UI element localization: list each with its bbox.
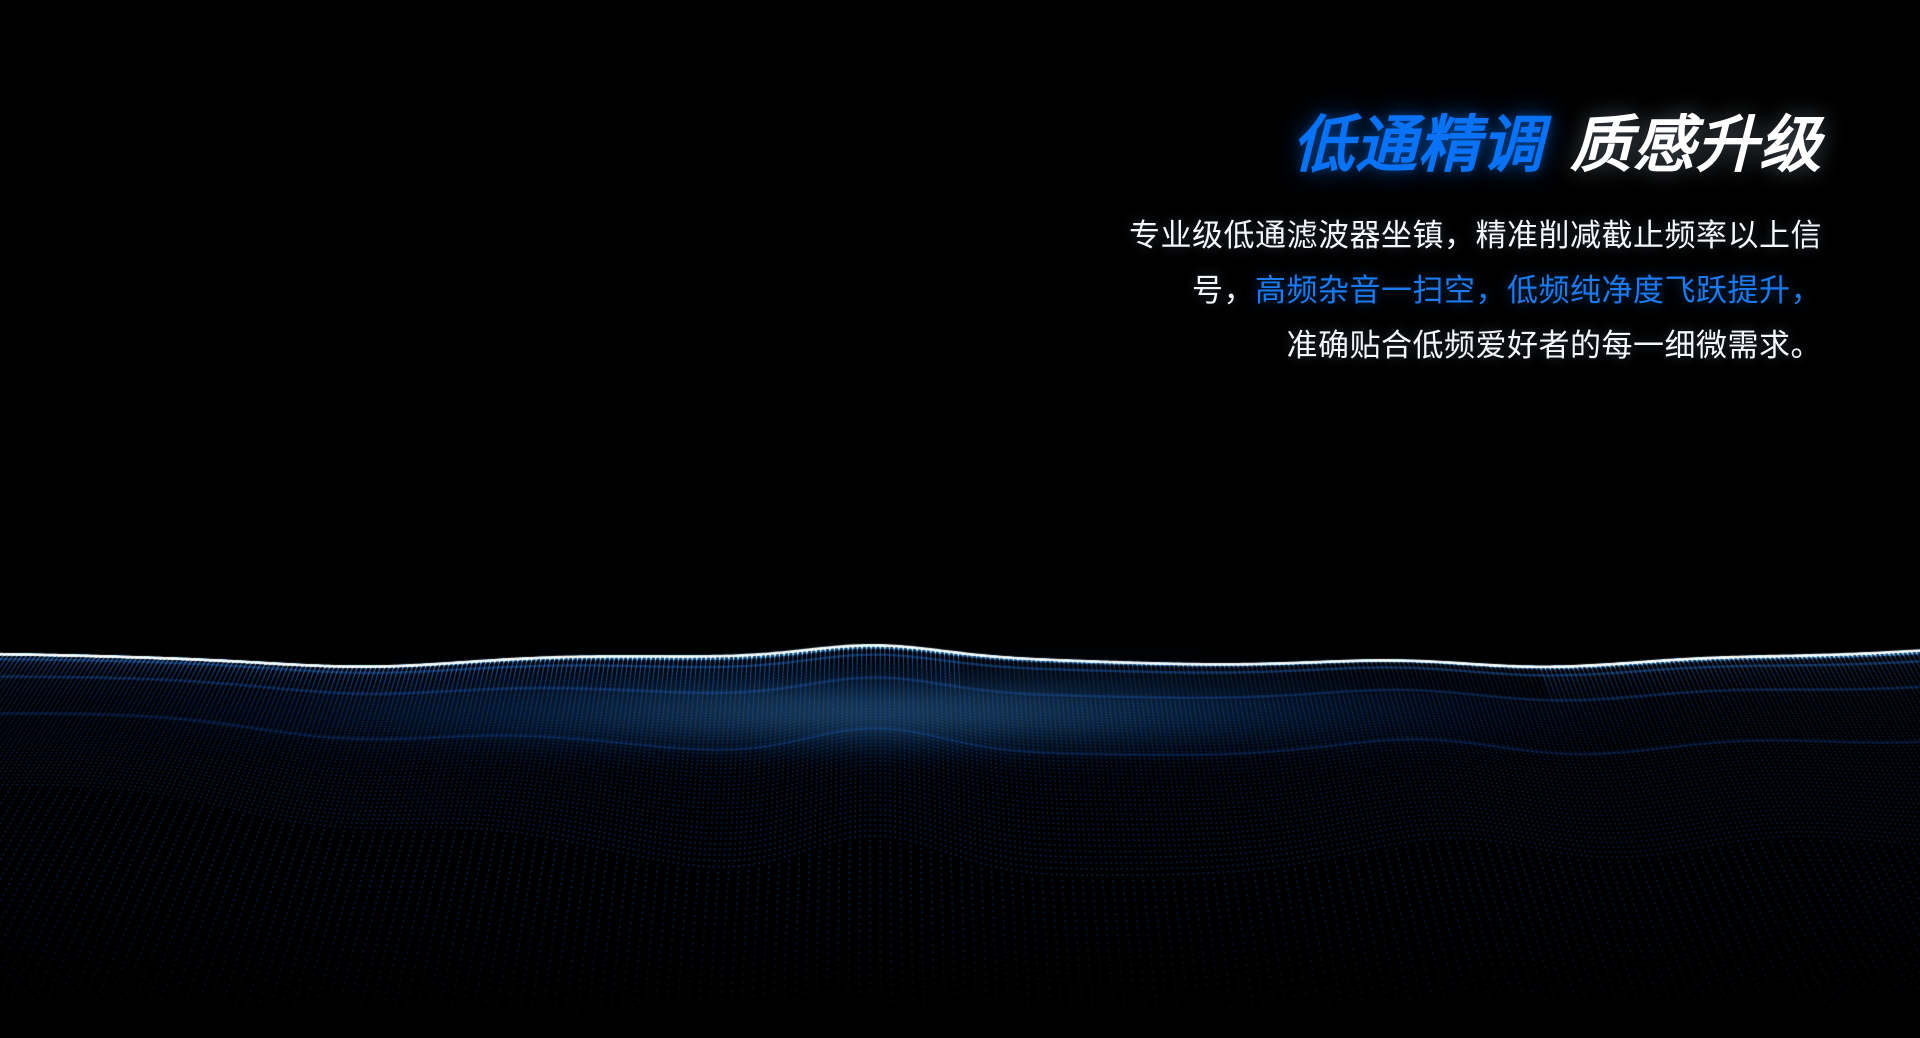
subcopy-line-1: 专业级低通滤波器坐镇，精准削减截止频率以上信: [1122, 208, 1822, 263]
promo-banner: 低通精调质感升级 专业级低通滤波器坐镇，精准削减截止频率以上信 号，高频杂音一扫…: [0, 0, 1920, 1038]
subcopy: 专业级低通滤波器坐镇，精准削减截止频率以上信 号，高频杂音一扫空，低频纯净度飞跃…: [1122, 208, 1822, 373]
subcopy-line-2-blue-text: 高频杂音一扫空，低频纯净度飞跃提升，: [1255, 273, 1822, 308]
subcopy-line-3-text: 准确贴合低频爱好者的每一细微需求。: [1287, 328, 1823, 363]
headline-blue-text: 低通精调: [1292, 111, 1544, 180]
subcopy-line-1-text: 专业级低通滤波器坐镇，精准削减截止频率以上信: [1129, 218, 1822, 253]
subcopy-line-2: 号，高频杂音一扫空，低频纯净度飞跃提升，: [1122, 263, 1822, 318]
page-title: 低通精调质感升级: [1122, 108, 1822, 184]
subcopy-line-3: 准确贴合低频爱好者的每一细微需求。: [1122, 318, 1822, 373]
subcopy-line-2-white-text: 号，: [1192, 273, 1255, 308]
copy-block: 低通精调质感升级 专业级低通滤波器坐镇，精准削减截止频率以上信 号，高频杂音一扫…: [1122, 108, 1822, 373]
headline-white-text: 质感升级: [1570, 111, 1822, 180]
